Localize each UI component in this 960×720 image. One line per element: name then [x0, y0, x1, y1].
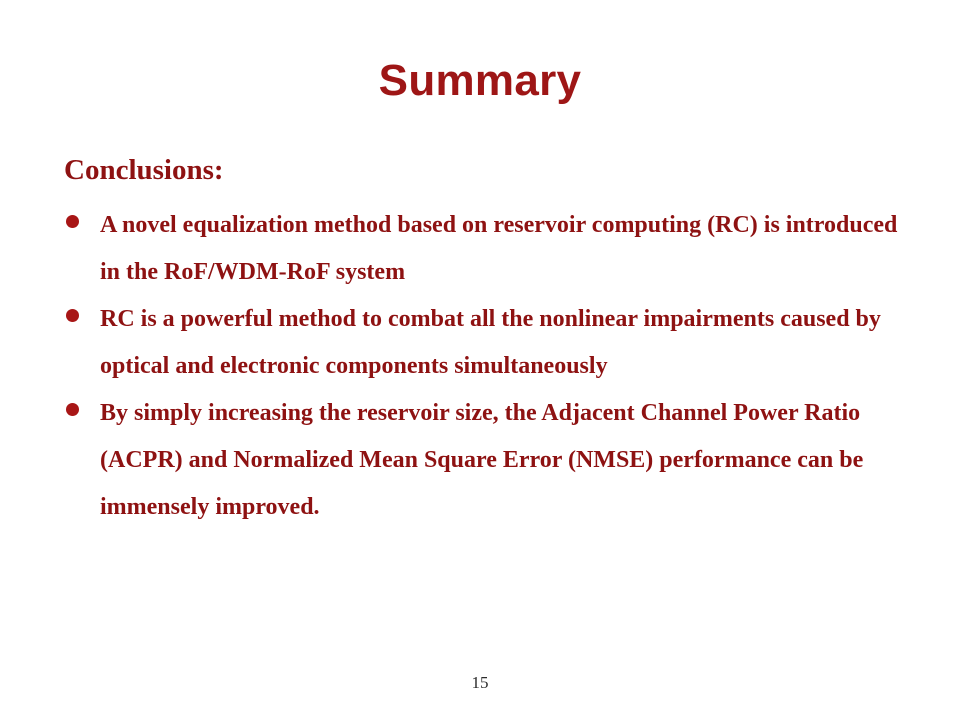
filled-circle-bullet-icon	[66, 215, 79, 228]
list-item: A novel equalization method based on res…	[64, 202, 914, 296]
presentation-slide: Summary Conclusions: A novel equalizatio…	[0, 0, 960, 720]
list-item: By simply increasing the reservoir size,…	[64, 390, 914, 531]
list-item-text: By simply increasing the reservoir size,…	[100, 390, 914, 531]
slide-body: Conclusions: A novel equalization method…	[64, 152, 914, 531]
page-number: 15	[0, 673, 960, 693]
filled-circle-bullet-icon	[66, 403, 79, 416]
conclusions-bullet-list: A novel equalization method based on res…	[64, 202, 914, 531]
list-item-text: A novel equalization method based on res…	[100, 202, 914, 296]
filled-circle-bullet-icon	[66, 309, 79, 322]
section-heading-conclusions: Conclusions:	[64, 152, 914, 188]
list-item-text: RC is a powerful method to combat all th…	[100, 296, 914, 390]
page-title: Summary	[0, 54, 960, 108]
list-item: RC is a powerful method to combat all th…	[64, 296, 914, 390]
